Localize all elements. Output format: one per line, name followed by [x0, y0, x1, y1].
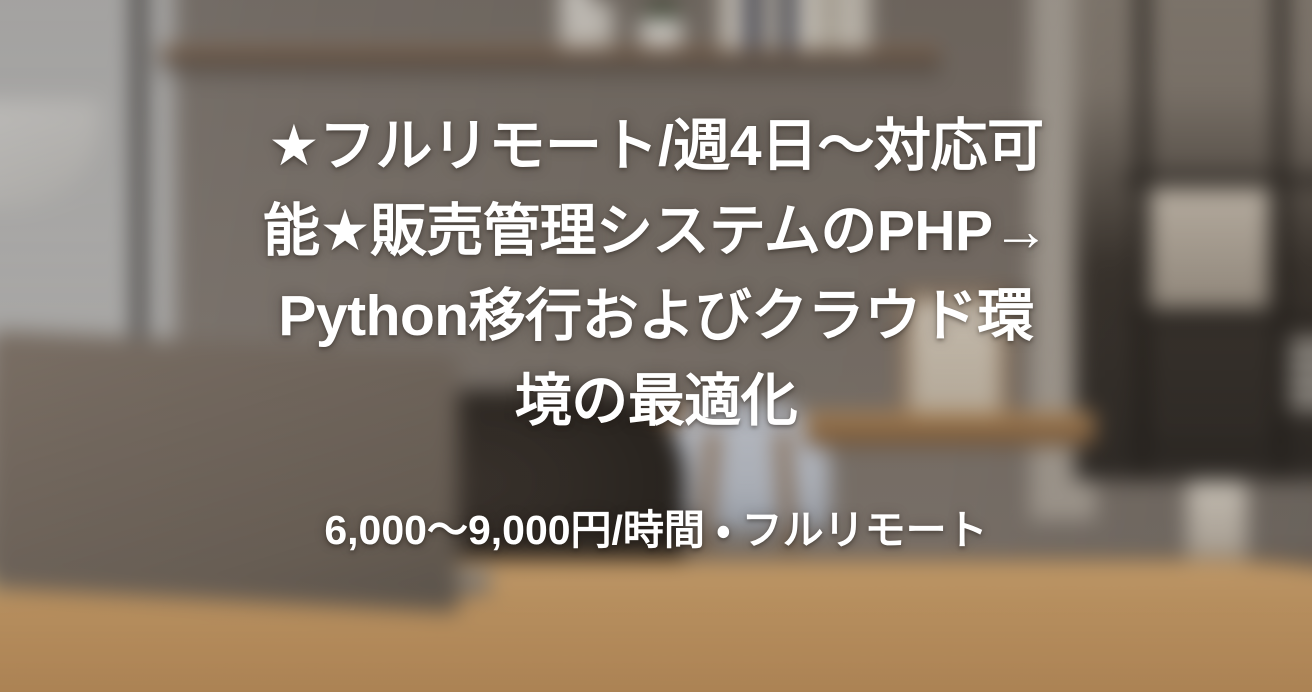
banner-headline: ★フルリモート/週4日〜対応可能★販売管理システムのPHP→Python移行およ…: [256, 104, 1056, 444]
job-banner: ★フルリモート/週4日〜対応可能★販売管理システムのPHP→Python移行およ…: [0, 0, 1312, 692]
banner-subline: 6,000〜9,000円/時間 ・ フルリモート: [324, 506, 987, 554]
text-overlay: ★フルリモート/週4日〜対応可能★販売管理システムのPHP→Python移行およ…: [0, 0, 1312, 692]
